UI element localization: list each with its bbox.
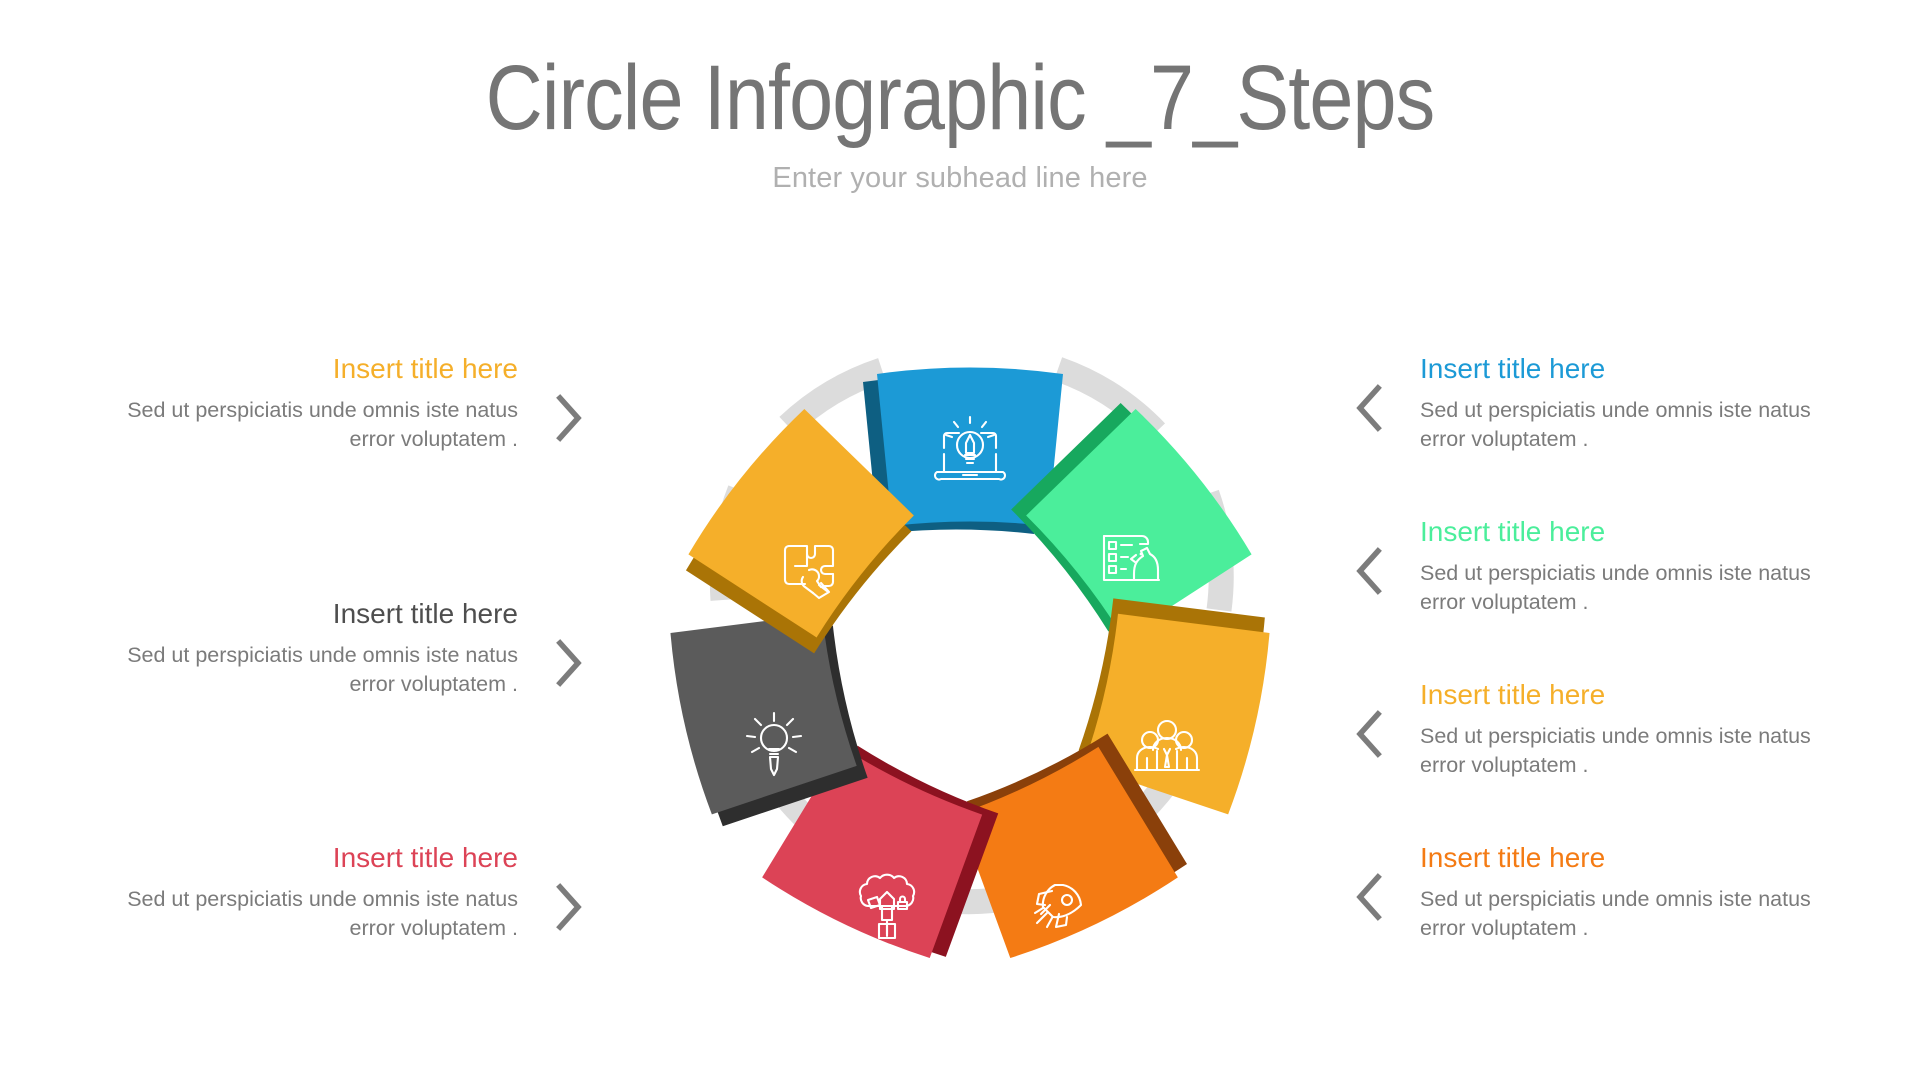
item-body: Sed ut perspiciatis unde omnis iste natu…: [1420, 559, 1860, 616]
item-title: Insert title here: [78, 352, 518, 385]
item-title: Insert title here: [1420, 515, 1860, 548]
text-block-right-2[interactable]: Insert title here Sed ut perspiciatis un…: [1420, 515, 1860, 616]
text-block-left-3[interactable]: Insert title here Sed ut perspiciatis un…: [78, 841, 518, 942]
item-body: Sed ut perspiciatis unde omnis iste natu…: [78, 396, 518, 453]
item-body: Sed ut perspiciatis unde omnis iste natu…: [1420, 885, 1860, 942]
text-block-right-1[interactable]: Insert title here Sed ut perspiciatis un…: [1420, 352, 1860, 453]
item-body: Sed ut perspiciatis unde omnis iste natu…: [78, 885, 518, 942]
text-block-left-1[interactable]: Insert title here Sed ut perspiciatis un…: [78, 352, 518, 453]
text-block-right-3[interactable]: Insert title here Sed ut perspiciatis un…: [1420, 678, 1860, 779]
item-body: Sed ut perspiciatis unde omnis iste natu…: [1420, 722, 1860, 779]
item-body: Sed ut perspiciatis unde omnis iste natu…: [1420, 396, 1860, 453]
header: Circle Infographic _7_Steps Enter your s…: [0, 52, 1920, 195]
page-title: Circle Infographic _7_Steps: [134, 52, 1785, 146]
item-title: Insert title here: [78, 597, 518, 630]
text-block-right-4[interactable]: Insert title here Sed ut perspiciatis un…: [1420, 841, 1860, 942]
circle-infographic-ring: [560, 250, 1380, 1070]
item-title: Insert title here: [1420, 352, 1860, 385]
item-title: Insert title here: [1420, 678, 1860, 711]
page-subtitle: Enter your subhead line here: [0, 162, 1920, 195]
item-body: Sed ut perspiciatis unde omnis iste natu…: [78, 641, 518, 698]
item-title: Insert title here: [78, 841, 518, 874]
item-title: Insert title here: [1420, 841, 1860, 874]
text-block-left-2[interactable]: Insert title here Sed ut perspiciatis un…: [78, 597, 518, 698]
